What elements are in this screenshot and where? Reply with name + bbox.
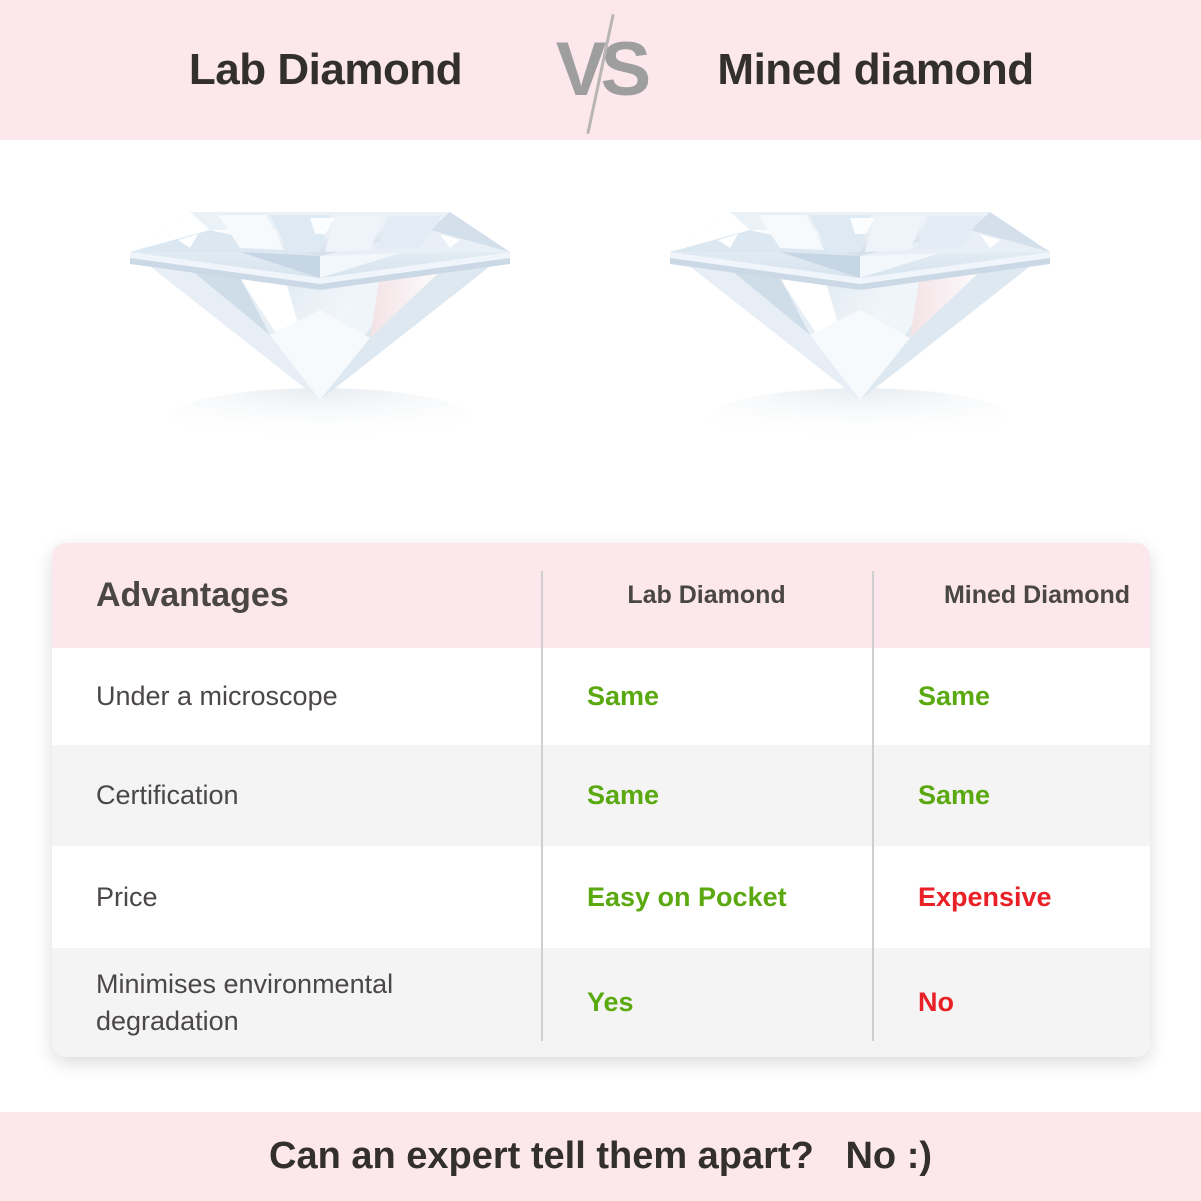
row-mined-value: Same <box>872 780 1150 811</box>
column-header-advantages: Advantages <box>96 543 289 648</box>
header-band: Lab Diamond VS Mined diamond <box>0 0 1201 140</box>
column-divider-right <box>872 571 874 1041</box>
mined-diamond-image <box>660 160 1080 460</box>
page-title-lab-diamond: Lab Diamond <box>111 45 541 95</box>
row-mined-value: Same <box>872 681 1150 712</box>
diamond-images-section <box>0 140 1201 540</box>
table-row: Under a microscope Same Same <box>52 648 1150 745</box>
table-header-row: Advantages Lab Diamond Mined Diamond <box>52 543 1150 648</box>
row-feature-label: Price <box>52 879 541 915</box>
column-divider-left <box>541 571 543 1041</box>
page-title-mined-diamond: Mined diamond <box>661 45 1091 95</box>
table-row: Minimises environmental degradation Yes … <box>52 948 1150 1057</box>
row-lab-value: Same <box>541 780 872 811</box>
column-header-mined-diamond: Mined Diamond <box>872 543 1150 648</box>
column-header-lab-diamond: Lab Diamond <box>541 543 872 648</box>
infographic-page: Lab Diamond VS Mined diamond <box>0 0 1201 1201</box>
table-row: Price Easy on Pocket Expensive <box>52 846 1150 948</box>
comparison-table-card: Advantages Lab Diamond Mined Diamond Und… <box>52 543 1150 1057</box>
versus-badge: VS <box>541 5 661 135</box>
row-lab-value: Same <box>541 681 872 712</box>
footer-question: Can an expert tell them apart? No :) <box>269 1135 932 1178</box>
row-feature-label: Under a microscope <box>52 678 541 714</box>
row-lab-value: Yes <box>541 987 872 1018</box>
row-mined-value: No <box>872 987 1150 1018</box>
row-feature-label: Certification <box>52 777 541 813</box>
row-feature-label: Minimises environmental degradation <box>52 966 541 1039</box>
lab-diamond-image <box>120 160 540 460</box>
row-lab-value: Easy on Pocket <box>541 882 872 913</box>
row-mined-value: Expensive <box>872 882 1150 913</box>
footer-band: Can an expert tell them apart? No :) <box>0 1112 1201 1201</box>
table-row: Certification Same Same <box>52 745 1150 846</box>
